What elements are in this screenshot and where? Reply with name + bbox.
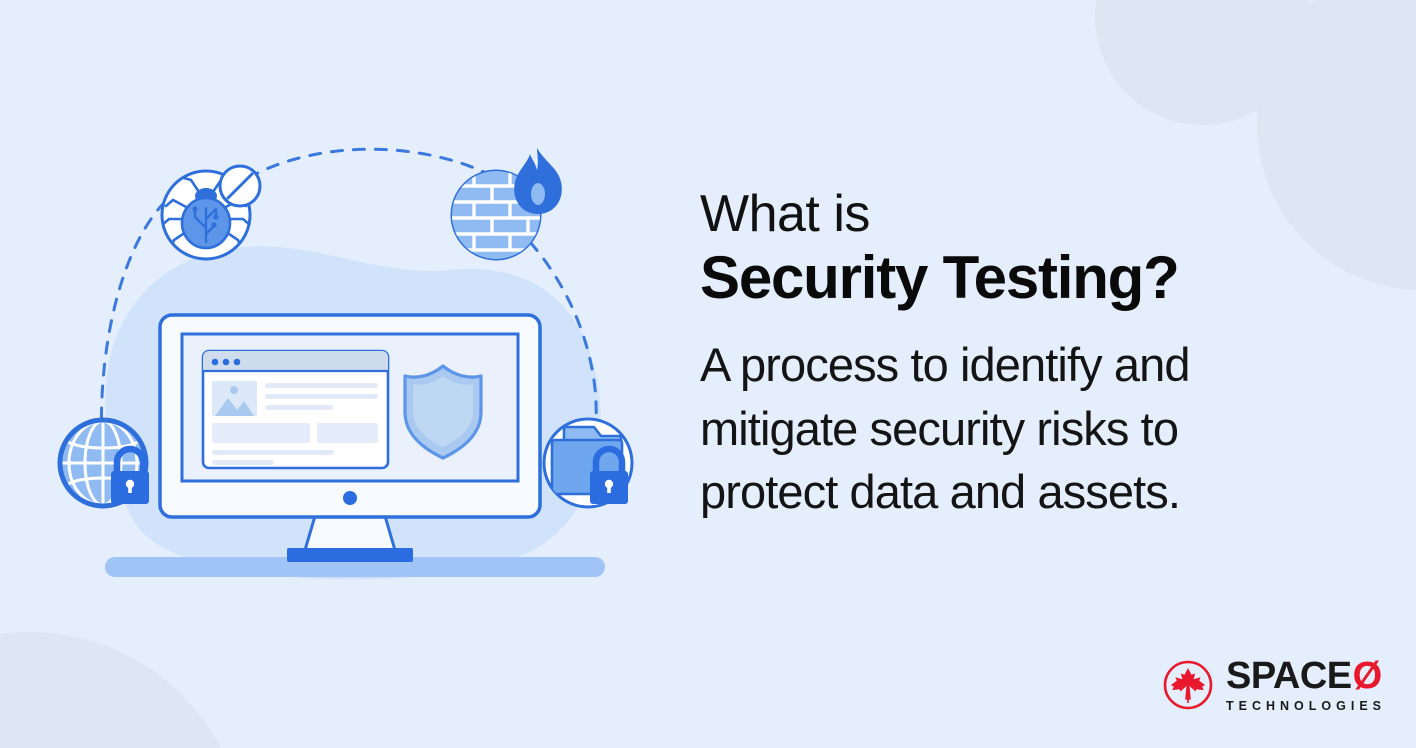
dashed-connector-arc-top (248, 149, 492, 178)
globe-lock-icon (59, 419, 149, 507)
brand-logo[interactable]: SPACE Ø TECHNOLOGIES (1162, 657, 1386, 713)
maple-leaf-circle-icon (1162, 659, 1214, 711)
banner-canvas: What is Security Testing? A process to i… (0, 0, 1416, 748)
folder-lock-icon (544, 419, 632, 507)
text-line (265, 383, 378, 388)
page-title: Security Testing? (700, 244, 1340, 311)
browser-window-mockup (203, 351, 388, 468)
text-line (212, 450, 334, 455)
logo-tagline: TECHNOLOGIES (1226, 700, 1386, 713)
logo-word-main: SPACE (1226, 657, 1352, 695)
text-line (265, 405, 333, 410)
decorative-circle-bottom-left (0, 632, 245, 748)
text-line (265, 394, 378, 399)
eyebrow-text: What is (700, 186, 1340, 242)
logo-wordmark: SPACE Ø (1226, 657, 1386, 695)
content-block (212, 423, 310, 443)
logo-word-accent: Ø (1353, 657, 1382, 695)
description-text: A process to identify and mitigate secur… (700, 333, 1320, 523)
text-block: What is Security Testing? A process to i… (700, 186, 1340, 524)
text-line (212, 460, 274, 465)
monitor-power-dot (343, 491, 357, 505)
security-testing-illustration (40, 120, 660, 600)
logo-text: SPACE Ø TECHNOLOGIES (1226, 657, 1386, 713)
monitor-base (287, 548, 413, 562)
browser-dot (234, 359, 241, 366)
flame-icon (514, 148, 562, 214)
content-block (317, 423, 378, 443)
browser-dot (212, 359, 219, 366)
browser-dot (223, 359, 230, 366)
malware-bug-blocked-icon (162, 166, 260, 259)
